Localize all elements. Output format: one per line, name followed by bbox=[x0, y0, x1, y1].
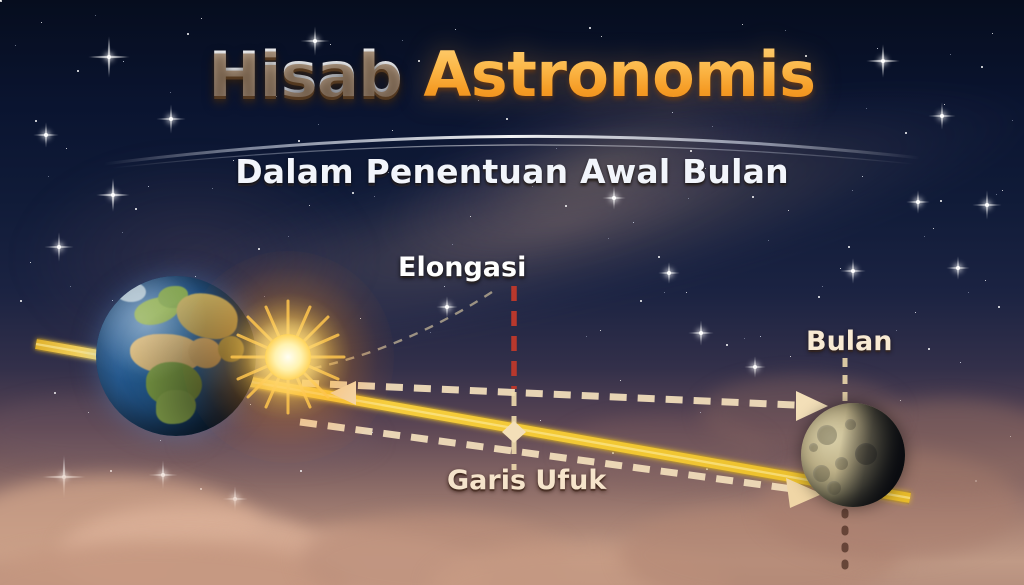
moon-globe bbox=[801, 403, 905, 507]
page-title: Hisab Astronomis bbox=[0, 44, 1024, 106]
label-garis-ufuk: Garis Ufuk bbox=[447, 465, 606, 496]
sun-flare bbox=[228, 297, 348, 417]
title-word-accent: Astronomis bbox=[423, 38, 815, 111]
poster-canvas: Hisab Astronomis Dalam Penentuan Awal Bu… bbox=[0, 0, 1024, 585]
page-subtitle: Dalam Penentuan Awal Bulan bbox=[0, 152, 1024, 191]
label-elongasi: Elongasi bbox=[398, 252, 526, 283]
moon-terminator-shadow bbox=[801, 403, 905, 507]
title-block: Hisab Astronomis bbox=[0, 44, 1024, 106]
sun-core bbox=[265, 334, 311, 380]
label-bulan: Bulan bbox=[806, 326, 893, 357]
title-word-primary: Hisab bbox=[208, 38, 402, 111]
